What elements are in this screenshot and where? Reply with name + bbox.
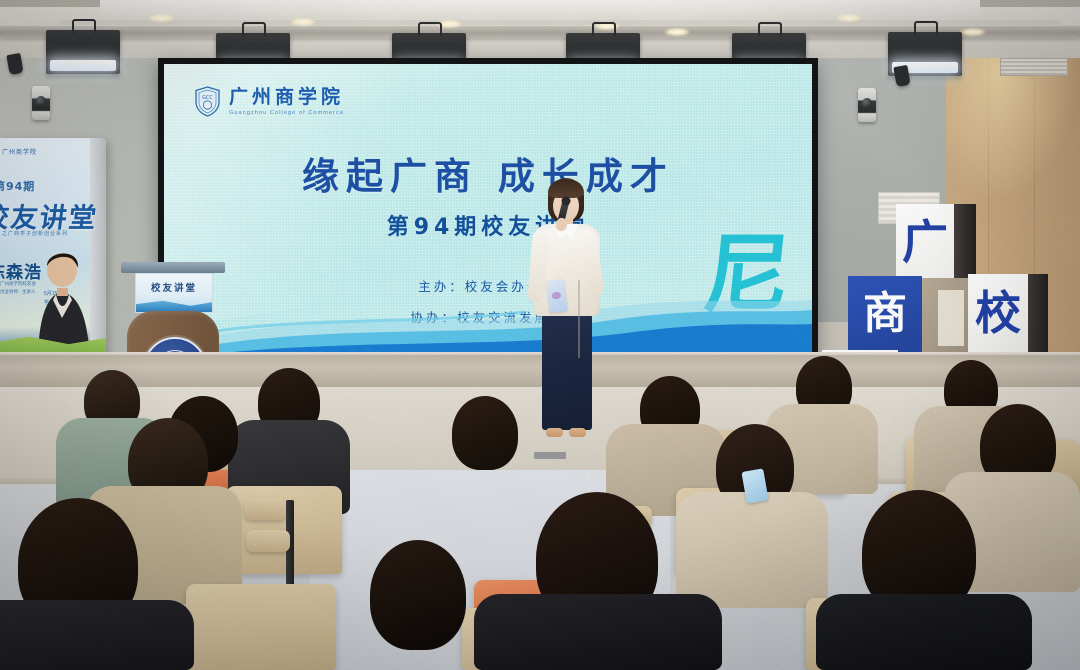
audience-body bbox=[474, 594, 722, 670]
seat bbox=[186, 584, 336, 670]
ceiling-rail-upper bbox=[60, 20, 1060, 25]
downlight bbox=[148, 14, 174, 22]
auditorium-photo: 尼 GCC 广州商学院 Guangzhou College of Commerc… bbox=[0, 0, 1080, 670]
downlight bbox=[836, 14, 862, 22]
school-crest-icon: GCC bbox=[194, 86, 221, 117]
poster-meta-line: 广州商学院校友会 bbox=[0, 280, 36, 288]
slide-logo-en: Guangzhou College of Commerce bbox=[229, 110, 344, 116]
cube-shang: 商 bbox=[848, 276, 922, 352]
cube-guang: 广 bbox=[896, 204, 968, 280]
presenter-cue-cards bbox=[546, 279, 567, 313]
lectern-sign: 校友讲堂 bbox=[135, 273, 213, 313]
audience-head bbox=[452, 396, 518, 470]
right-wall-camera bbox=[858, 88, 876, 122]
presenter-jeans bbox=[542, 310, 592, 430]
lectern-top bbox=[121, 262, 225, 273]
cube-xiao: 校 bbox=[968, 274, 1044, 352]
svg-text:GCC: GCC bbox=[202, 95, 213, 101]
wall-light-glow bbox=[946, 56, 1080, 206]
audience-body bbox=[0, 600, 194, 670]
seat-armrest bbox=[246, 530, 290, 552]
poster-logo: 广州商学院 bbox=[2, 147, 37, 156]
stage-light bbox=[46, 30, 120, 74]
slide-logo-cn: 广州商学院 bbox=[229, 88, 344, 107]
seat-armrest bbox=[244, 498, 286, 520]
slide-title: 缘起广商 成长成才 bbox=[164, 146, 812, 200]
poster-meta-line: 创业导师 · 主讲人 bbox=[0, 288, 36, 296]
poster-issue: 第94期 bbox=[0, 178, 35, 194]
slide-subtitle: 第94期校友讲堂 bbox=[164, 209, 812, 241]
downlight bbox=[960, 28, 986, 36]
air-vent bbox=[1000, 58, 1068, 76]
led-screen: 尼 GCC 广州商学院 Guangzhou College of Commerc… bbox=[164, 64, 812, 362]
slide-school-logo: GCC 广州商学院 Guangzhou College of Commerce bbox=[194, 86, 344, 117]
lectern-sign-text: 校友讲堂 bbox=[136, 280, 212, 294]
left-wall-camera bbox=[32, 86, 50, 120]
presenter-shoe bbox=[546, 428, 563, 437]
audience-body bbox=[676, 492, 828, 608]
cube-inner bbox=[922, 278, 974, 352]
poster-meta: 广州商学院校友会 创业导师 · 主讲人 bbox=[0, 280, 36, 295]
presenter bbox=[520, 178, 612, 460]
led-screen-frame: 尼 GCC 广州商学院 Guangzhou College of Commerc… bbox=[158, 58, 818, 368]
poster-tagline: 之广商学子创新创业系列 bbox=[2, 230, 68, 237]
presenter-shoe bbox=[569, 428, 586, 437]
downlight bbox=[664, 28, 690, 36]
audience-head bbox=[370, 540, 466, 650]
slide-wave-graphic bbox=[164, 270, 812, 362]
lectern-sign-wave bbox=[136, 298, 212, 312]
audience-body bbox=[816, 594, 1032, 670]
downlight bbox=[290, 18, 316, 26]
